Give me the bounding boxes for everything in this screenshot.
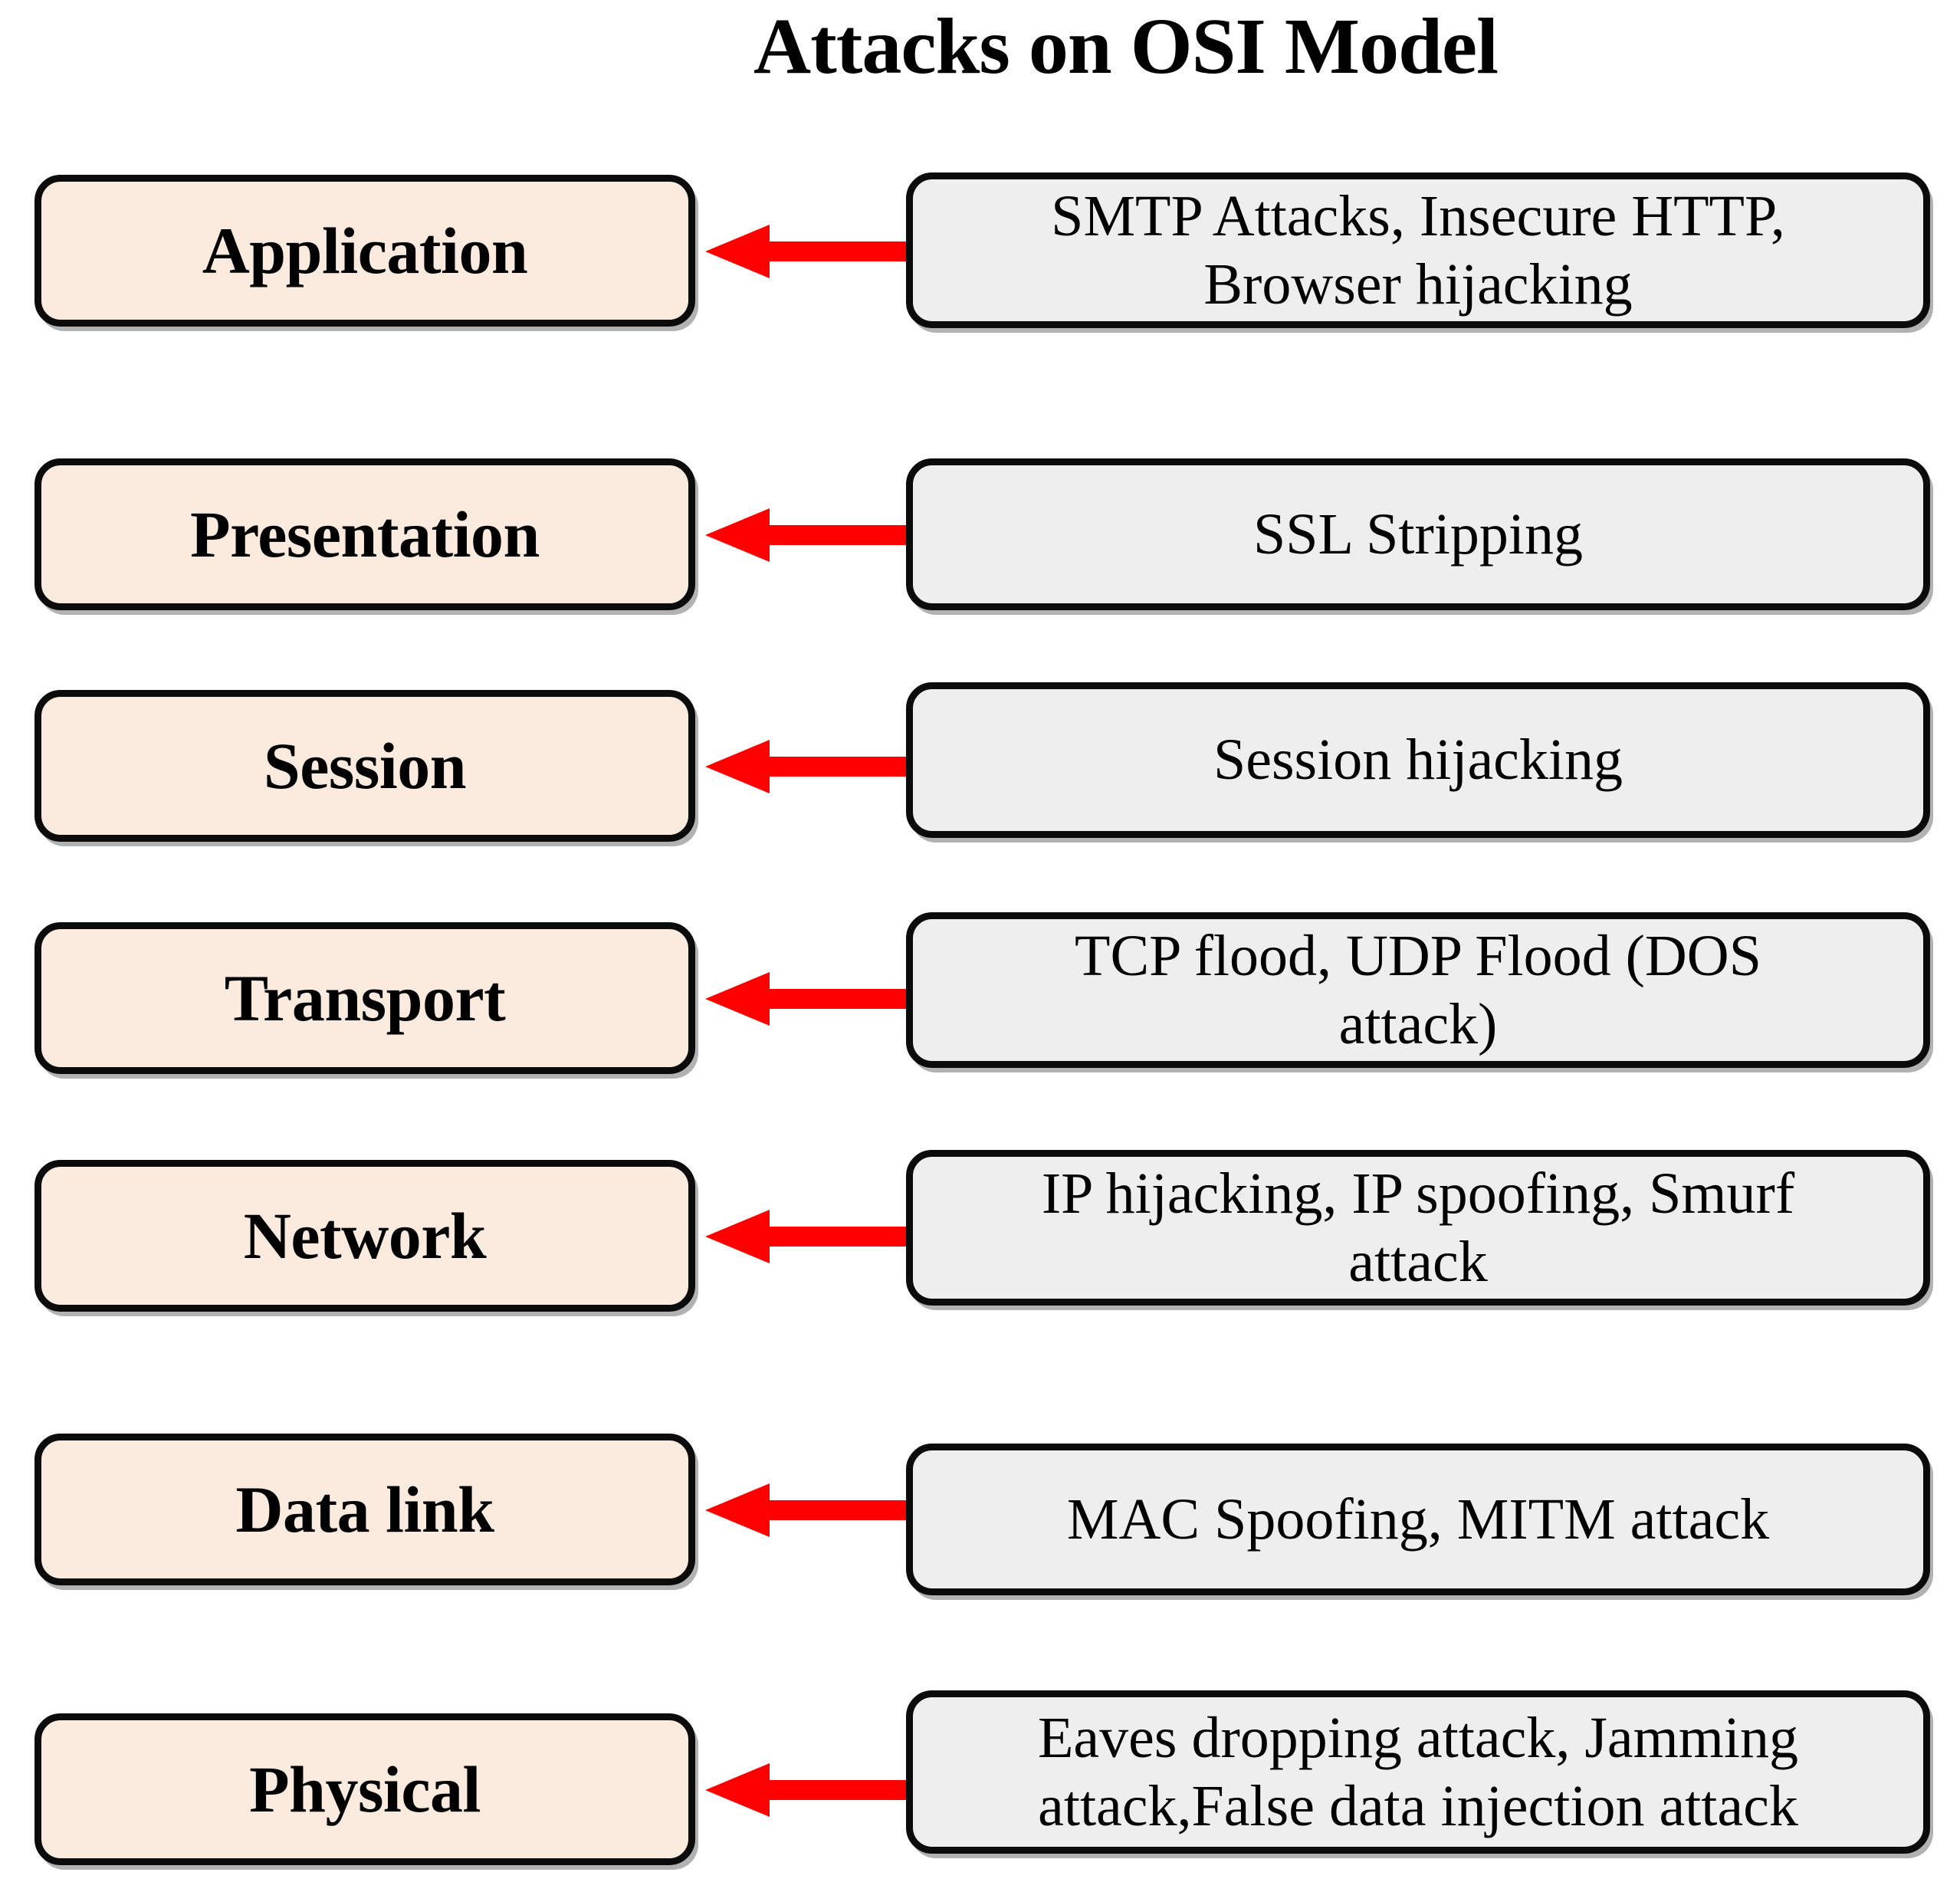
arrow-application	[705, 223, 906, 280]
attack-box-application[interactable]: SMTP Attacks, Insecure HTTP, Browser hij…	[906, 172, 1930, 328]
layer-label: Session	[264, 728, 466, 804]
attack-box-presentation[interactable]: SSL Stripping	[906, 458, 1930, 610]
attack-box-session[interactable]: Session hijacking	[906, 682, 1930, 838]
layer-label: Transport	[225, 960, 506, 1036]
arrow-physical	[705, 1762, 906, 1818]
attack-label: Eaves dropping attack, Jamming attack,Fa…	[921, 1704, 1916, 1841]
layer-label: Application	[202, 212, 528, 289]
layer-box-data-link[interactable]: Data link	[34, 1434, 695, 1585]
layer-label: Presentation	[190, 496, 540, 573]
layer-label: Physical	[249, 1751, 481, 1828]
layer-box-transport[interactable]: Transport	[34, 922, 695, 1074]
arrow-transport	[705, 971, 906, 1027]
attack-box-transport[interactable]: TCP flood, UDP Flood (DOS attack)	[906, 912, 1930, 1068]
arrow-data-link	[705, 1482, 906, 1539]
osi-attacks-diagram: Attacks on OSI Model Application SMTP At…	[0, 0, 1960, 1892]
attack-label: IP hijacking, IP spoofing, Smurf attack	[921, 1160, 1916, 1296]
layer-box-session[interactable]: Session	[34, 690, 695, 842]
attack-label: SSL Stripping	[921, 501, 1916, 569]
attack-label: TCP flood, UDP Flood (DOS attack)	[921, 922, 1916, 1059]
layer-label: Data link	[235, 1471, 494, 1548]
page-title: Attacks on OSI Model	[0, 5, 1960, 88]
attack-box-network[interactable]: IP hijacking, IP spoofing, Smurf attack	[906, 1150, 1930, 1306]
layer-box-physical[interactable]: Physical	[34, 1713, 695, 1865]
layer-label: Network	[244, 1197, 487, 1274]
layer-box-application[interactable]: Application	[34, 175, 695, 327]
attack-label: Session hijacking	[921, 726, 1916, 794]
attack-label: SMTP Attacks, Insecure HTTP, Browser hij…	[921, 182, 1916, 319]
layer-box-presentation[interactable]: Presentation	[34, 458, 695, 610]
layer-box-network[interactable]: Network	[34, 1160, 695, 1312]
attack-box-physical[interactable]: Eaves dropping attack, Jamming attack,Fa…	[906, 1690, 1930, 1854]
arrow-network	[705, 1208, 906, 1265]
arrow-presentation	[705, 507, 906, 563]
arrow-session	[705, 738, 906, 795]
attack-label: MAC Spoofing, MITM attack	[921, 1486, 1916, 1554]
attack-box-data-link[interactable]: MAC Spoofing, MITM attack	[906, 1444, 1930, 1595]
